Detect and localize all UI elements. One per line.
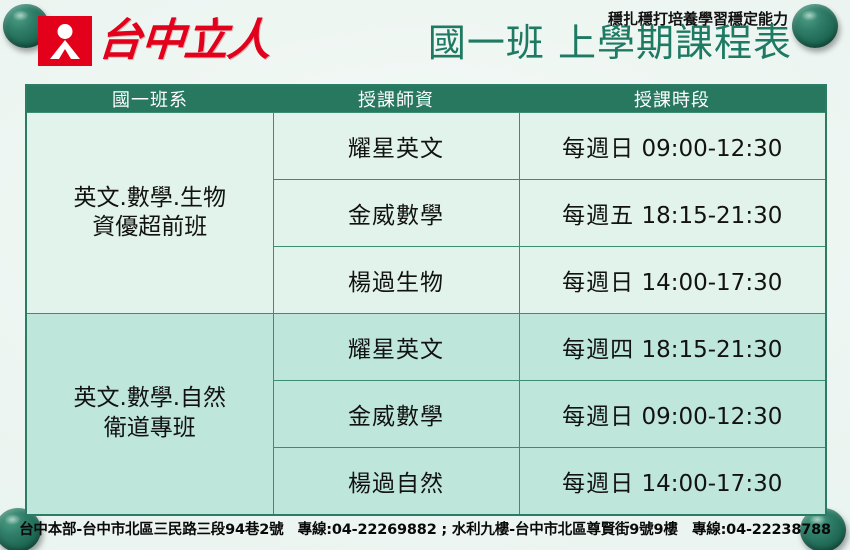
teacher-cell: 楊過自然 [273, 448, 519, 515]
class-group-weidao: 英文.數學.自然 衛道專班 耀星英文 每週四 18:15-21:30 金威數學 … [26, 314, 826, 515]
time-range-text: 09:00-12:30 [641, 136, 782, 162]
time-cell: 每週五 18:15-21:30 [519, 180, 826, 247]
time-range-text: 14:00-17:30 [641, 471, 782, 497]
brand-block: 台中立人 [38, 16, 270, 66]
table-row: 英文.數學.自然 衛道專班 耀星英文 每週四 18:15-21:30 [26, 314, 826, 381]
time-cell: 每週日 14:00-17:30 [519, 247, 826, 314]
teacher-cell: 耀星英文 [273, 113, 519, 180]
poster-page: 台中立人 穩扎穩打培養學習穩定能力 國一班 上學期課程表 國一班系 授課師資 授… [0, 0, 850, 550]
time-range-text: 18:15-21:30 [641, 337, 782, 363]
class-name-cell-group-0: 英文.數學.生物 資優超前班 [26, 113, 273, 314]
column-header-time: 授課時段 [519, 85, 826, 113]
weekday-text: 每週日 [562, 471, 634, 497]
time-cell: 每週日 14:00-17:30 [519, 448, 826, 515]
footer-contact-info: 台中本部-台中市北區三民路三段94巷2號 專線:04-22269882 ; 水利… [0, 518, 850, 539]
class-name-line1: 英文.數學.自然 [73, 385, 226, 411]
weekday-text: 每週五 [562, 203, 634, 229]
table-row: 英文.數學.生物 資優超前班 耀星英文 每週日 09:00-12:30 [26, 113, 826, 180]
weekday-text: 每週日 [562, 404, 634, 430]
class-name-line2: 資優超前班 [92, 214, 207, 240]
time-range-text: 18:15-21:30 [641, 203, 782, 229]
time-cell: 每週四 18:15-21:30 [519, 314, 826, 381]
class-name-line2: 衛道專班 [104, 415, 196, 441]
teacher-cell: 楊過生物 [273, 247, 519, 314]
teacher-cell: 金威數學 [273, 381, 519, 448]
weekday-text: 每週日 [562, 136, 634, 162]
class-group-advanced: 英文.數學.生物 資優超前班 耀星英文 每週日 09:00-12:30 金威數學… [26, 113, 826, 314]
table-header-row: 國一班系 授課師資 授課時段 [26, 85, 826, 113]
table-head: 國一班系 授課師資 授課時段 [26, 85, 826, 113]
time-range-text: 09:00-12:30 [641, 404, 782, 430]
weekday-text: 每週日 [562, 270, 634, 296]
teacher-cell: 耀星英文 [273, 314, 519, 381]
column-header-class: 國一班系 [26, 85, 273, 113]
logo-leg-notch-shape [59, 49, 71, 59]
time-cell: 每週日 09:00-12:30 [519, 113, 826, 180]
weekday-text: 每週四 [562, 337, 634, 363]
logo-head-shape [58, 24, 73, 39]
class-name-cell-group-1: 英文.數學.自然 衛道專班 [26, 314, 273, 515]
teacher-cell: 金威數學 [273, 180, 519, 247]
poster-header: 台中立人 穩扎穩打培養學習穩定能力 國一班 上學期課程表 [0, 0, 850, 84]
time-range-text: 14:00-17:30 [641, 270, 782, 296]
brand-name: 台中立人 [96, 19, 271, 63]
column-header-teacher: 授課師資 [273, 85, 519, 113]
person-triangle-logo-icon [38, 16, 92, 66]
time-cell: 每週日 09:00-12:30 [519, 381, 826, 448]
course-schedule-table: 國一班系 授課師資 授課時段 英文.數學.生物 資優超前班 耀星英文 每週日 0… [25, 84, 827, 516]
class-name-line1: 英文.數學.生物 [73, 185, 226, 211]
page-title: 國一班 上學期課程表 [428, 24, 792, 62]
